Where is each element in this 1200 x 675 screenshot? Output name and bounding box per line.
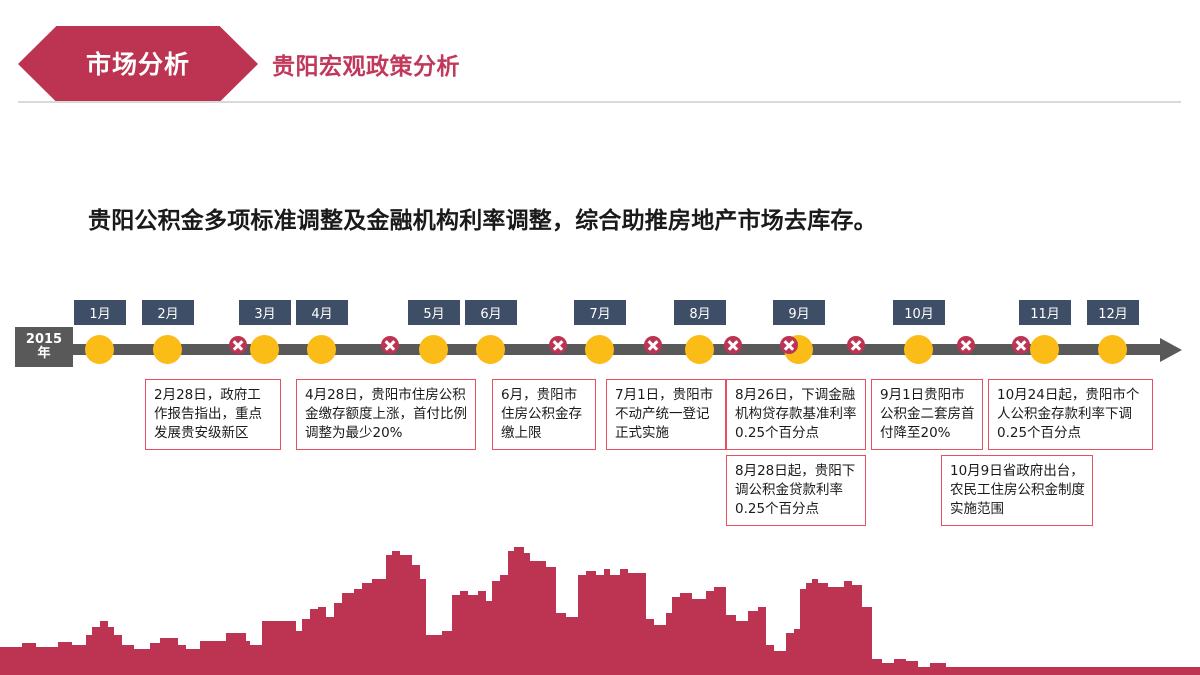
timeline-year-value: 2015 — [26, 333, 62, 347]
section-tag-chevron: 市场分析 — [18, 26, 258, 102]
month-dot-icon — [307, 335, 336, 364]
month-chip-6: 6月 — [465, 300, 517, 325]
callout-oct-24: 10月24日起，贵阳市个人公积金存款利率下调0.25个百分点 — [988, 379, 1153, 450]
month-dot-icon — [476, 335, 505, 364]
month-dot-icon — [904, 335, 933, 364]
event-cross-icon — [957, 336, 975, 354]
month-dot-icon — [153, 335, 182, 364]
month-chip-12: 12月 — [1087, 300, 1139, 325]
timeline-year-unit: 年 — [37, 347, 50, 361]
month-chip-5: 5月 — [408, 300, 460, 325]
event-cross-icon — [229, 336, 247, 354]
callout-jul: 7月1日，贵阳市不动产统一登记正式实施 — [606, 379, 726, 450]
month-chip-7: 7月 — [574, 300, 626, 325]
timeline-month-node: 11月 — [1019, 300, 1071, 325]
timeline-month-node: 1月 — [74, 300, 126, 325]
callout-feb: 2月28日，政府工作报告指出，重点发展贵安级新区 — [145, 379, 281, 450]
callout-apr: 4月28日，贵阳市住房公积金缴存额度上涨，首付比例调整为最少20% — [296, 379, 476, 450]
month-chip-8: 8月 — [674, 300, 726, 325]
month-dot-icon — [1098, 335, 1127, 364]
timeline-month-node: 5月 — [408, 300, 460, 325]
month-dot-icon — [250, 335, 279, 364]
month-dot-icon — [85, 335, 114, 364]
timeline-month-node: 7月 — [574, 300, 626, 325]
timeline-month-node: 9月 — [773, 300, 825, 325]
month-dot-icon — [1030, 335, 1059, 364]
month-dot-icon — [685, 335, 714, 364]
month-chip-10: 10月 — [893, 300, 945, 325]
section-tag-label: 市场分析 — [86, 52, 190, 77]
city-skyline-graphic — [0, 535, 1200, 675]
callout-sep-1: 9月1日贵阳市公积金二套房首付降至20% — [871, 379, 983, 450]
event-cross-icon — [724, 336, 742, 354]
timeline-month-node: 8月 — [674, 300, 726, 325]
month-chip-11: 11月 — [1019, 300, 1071, 325]
month-chip-2: 2月 — [142, 300, 194, 325]
month-chip-4: 4月 — [296, 300, 348, 325]
month-dot-icon — [419, 335, 448, 364]
month-chip-9: 9月 — [773, 300, 825, 325]
timeline-month-node: 2月 — [142, 300, 194, 325]
event-cross-icon — [381, 336, 399, 354]
timeline-arrow-icon — [1160, 338, 1182, 362]
event-cross-icon — [644, 336, 662, 354]
timeline-month-node: 3月 — [239, 300, 291, 325]
callout-jun: 6月，贵阳市住房公积金存缴上限 — [492, 379, 596, 450]
month-chip-1: 1月 — [74, 300, 126, 325]
callout-aug-28: 8月28日起，贵阳下调公积金贷款利率0.25个百分点 — [726, 455, 866, 526]
page-title: 贵阳公积金多项标准调整及金融机构利率调整，综合助推房地产市场去库存。 — [88, 201, 877, 235]
callout-oct-9: 10月9日省政府出台，农民工住房公积金制度实施范围 — [941, 455, 1093, 526]
event-cross-icon — [847, 336, 865, 354]
event-cross-icon — [549, 336, 567, 354]
callout-aug-26: 8月26日，下调金融机构贷存款基准利率0.25个百分点 — [726, 379, 866, 450]
timeline-month-node: 10月 — [893, 300, 945, 325]
event-cross-icon — [1012, 336, 1030, 354]
timeline-month-node: 4月 — [296, 300, 348, 325]
event-cross-icon — [780, 336, 798, 354]
timeline-month-node: 12月 — [1087, 300, 1139, 325]
month-chip-3: 3月 — [239, 300, 291, 325]
header-divider — [18, 101, 1181, 103]
month-dot-icon — [585, 335, 614, 364]
timeline: 2015 年 1月2月3月4月5月6月7月8月9月10月11月12月 — [0, 300, 1200, 380]
timeline-month-node: 6月 — [465, 300, 517, 325]
header-subtitle: 贵阳宏观政策分析 — [272, 26, 460, 102]
